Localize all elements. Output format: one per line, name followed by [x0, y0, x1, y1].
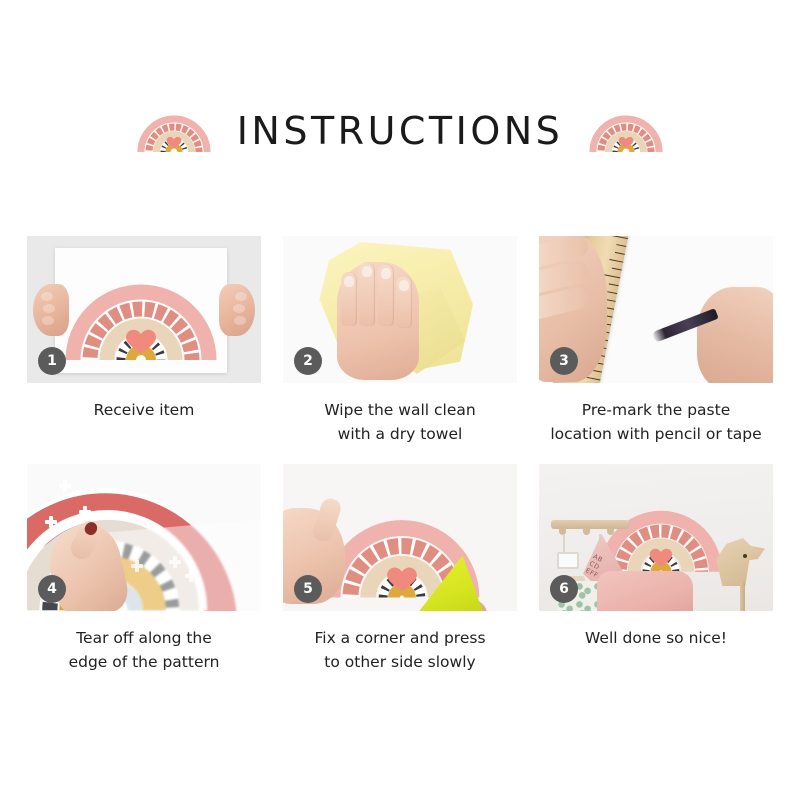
step-badge: 3 [550, 347, 578, 375]
hanging-frame [557, 552, 579, 569]
instructions-page: INSTRUCTIONS [0, 0, 800, 800]
rainbow-icon [589, 104, 663, 159]
step-caption-6: Well done so nice! [539, 626, 773, 650]
step-image-6: AB CD EFF 6 [539, 464, 773, 611]
step-badge: 2 [294, 347, 322, 375]
step-image-3: 3 [539, 236, 773, 383]
step-caption-3: Pre-mark the paste location with pencil … [539, 398, 773, 446]
caption-line: Fix a corner and press [287, 626, 513, 650]
printed-sheet [55, 248, 227, 373]
step-caption-5: Fix a corner and press to other side slo… [283, 626, 517, 674]
step-card-1: 1 Receive item [27, 236, 261, 446]
step-card-5: 5 Fix a corner and press to other side s… [283, 464, 517, 674]
caption-line: edge of the pattern [31, 650, 257, 674]
caption-line: Well done so nice! [543, 626, 769, 650]
pink-pillow [597, 571, 693, 611]
steps-grid: 1 Receive item [27, 236, 773, 674]
page-header: INSTRUCTIONS [0, 96, 800, 166]
step-badge: 6 [550, 575, 578, 603]
step-image-5: 5 [283, 464, 517, 611]
step-badge: 5 [294, 575, 322, 603]
caption-line: with a dry towel [287, 422, 513, 446]
page-title: INSTRUCTIONS [237, 112, 564, 150]
step-caption-1: Receive item [27, 398, 261, 422]
right-hand [219, 284, 255, 336]
caption-line: location with pencil or tape [543, 422, 769, 446]
step-badge: 1 [38, 347, 66, 375]
step-image-2: 2 [283, 236, 517, 383]
step-image-1: 1 [27, 236, 261, 383]
caption-line: to other side slowly [287, 650, 513, 674]
rainbow-icon [137, 104, 211, 159]
step-card-6: AB CD EFF 6 Well done so nice! [539, 464, 773, 674]
left-hand [33, 284, 69, 336]
caption-line: Tear off along the [31, 626, 257, 650]
pen-hand [697, 287, 773, 383]
caption-line: Pre-mark the paste [543, 398, 769, 422]
step-card-3: 3 Pre-mark the paste location with penci… [539, 236, 773, 446]
caption-line: Receive item [31, 398, 257, 422]
step-card-4: 4 Tear off along the edge of the pattern [27, 464, 261, 674]
step-caption-2: Wipe the wall clean with a dry towel [283, 398, 517, 446]
hobby-horse-stick [740, 582, 745, 611]
caption-line: Wipe the wall clean [287, 398, 513, 422]
rainbow-illustration [55, 248, 227, 373]
step-badge: 4 [38, 575, 66, 603]
step-card-2: 2 Wipe the wall clean with a dry towel [283, 236, 517, 446]
step-caption-4: Tear off along the edge of the pattern [27, 626, 261, 674]
step-image-4: 4 [27, 464, 261, 611]
wiping-hand [337, 262, 419, 380]
